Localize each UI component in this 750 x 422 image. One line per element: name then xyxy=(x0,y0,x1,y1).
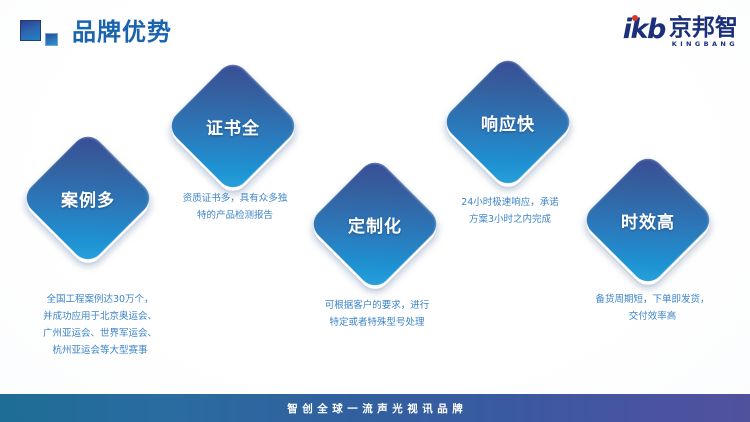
diamond-label: 定制化 xyxy=(327,176,423,272)
advantage-caption: 备货周期短，下单即发货， 交付效率高 xyxy=(560,291,745,325)
diamond-label: 响应快 xyxy=(460,74,556,170)
advantage-caption: 可根据客户的要求，进行 特定或者特殊型号处理 xyxy=(287,297,467,331)
diamond-label: 案例多 xyxy=(40,150,136,246)
diamond-label: 时效高 xyxy=(600,172,696,268)
diamond-shape[interactable]: 证书全 xyxy=(185,78,281,174)
square-small-decoration-icon xyxy=(45,33,58,46)
caption-line: 备货周期短，下单即发货， xyxy=(560,291,745,308)
caption-line: 特的产品检测报告 xyxy=(145,207,325,224)
slide-header: 品牌优势 ikb 京邦智 KINGBANG xyxy=(0,0,750,62)
diamond-shape[interactable]: 定制化 xyxy=(327,176,423,272)
brand-logo: ikb 京邦智 KINGBANG xyxy=(623,16,738,50)
advantage-caption: 24小时极速响应，承诺 方案3小时之内完成 xyxy=(420,194,600,228)
logo-english-label: KINGBANG xyxy=(672,40,738,49)
logo-latin-text: ikb xyxy=(623,16,665,44)
diamond-shape[interactable]: 案例多 xyxy=(40,150,136,246)
slide-canvas: 品牌优势 ikb 京邦智 KINGBANG 案例多 全国工程案例达30万个， 并… xyxy=(0,0,750,422)
caption-line: 杭州亚运会等大型赛事 xyxy=(0,342,200,359)
caption-line: 资质证书多，具有众多独 xyxy=(145,190,325,207)
diamond-shape[interactable]: 时效高 xyxy=(600,172,696,268)
advantage-caption: 全国工程案例达30万个， 并成功应用于北京奥运会、 广州亚运会、世界军运会、 杭… xyxy=(0,291,200,359)
caption-line: 广州亚运会、世界军运会、 xyxy=(0,325,200,342)
logo-dot-icon xyxy=(632,15,638,21)
advantage-caption: 资质证书多，具有众多独 特的产品检测报告 xyxy=(145,190,325,224)
caption-line: 可根据客户的要求，进行 xyxy=(287,297,467,314)
page-title: 品牌优势 xyxy=(72,17,172,47)
caption-line: 特定或者特殊型号处理 xyxy=(287,314,467,331)
logo-chinese-block: 京邦智 KINGBANG xyxy=(669,16,738,49)
square-large-decoration-icon xyxy=(20,20,41,41)
diamond-label: 证书全 xyxy=(185,78,281,174)
caption-line: 全国工程案例达30万个， xyxy=(0,291,200,308)
slide-footer: 智创全球一流声光视讯品牌 xyxy=(0,394,750,422)
diamond-shape[interactable]: 响应快 xyxy=(460,74,556,170)
footer-slogan: 智创全球一流声光视讯品牌 xyxy=(283,401,468,416)
logo-chinese-label: 京邦智 xyxy=(669,16,738,40)
logo-latin-label: ikb xyxy=(623,14,665,45)
caption-line: 并成功应用于北京奥运会、 xyxy=(0,308,200,325)
caption-line: 交付效率高 xyxy=(560,308,745,325)
caption-line: 方案3小时之内完成 xyxy=(420,211,600,228)
caption-line: 24小时极速响应，承诺 xyxy=(420,194,600,211)
